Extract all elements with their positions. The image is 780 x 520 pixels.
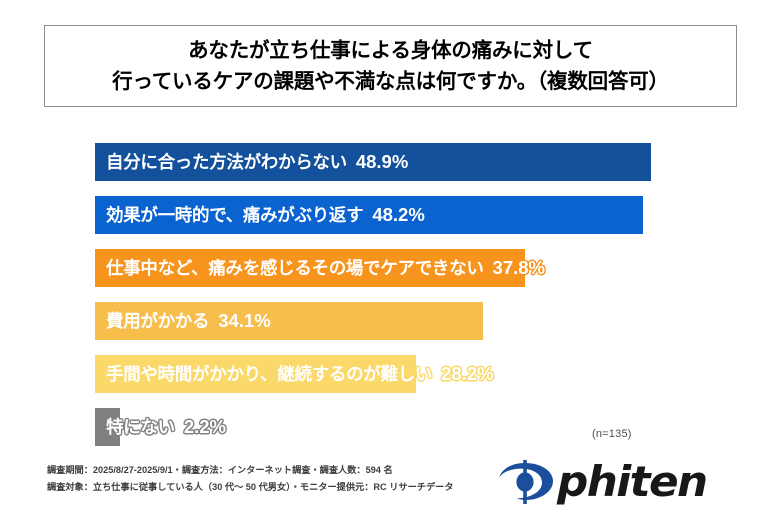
bar-label: 自分に合った方法がわからない48.9% [106, 143, 408, 181]
bar-row: 手間や時間がかかり、継続するのが難しい28.2% [95, 355, 686, 393]
bar-value-text: 28.2% [441, 363, 493, 384]
bar-row: 自分に合った方法がわからない48.9% [95, 143, 686, 181]
bar-label: 特にない2.2% [106, 408, 226, 446]
phiten-phi-mark-icon [495, 460, 557, 504]
survey-method-notes: 調査期間：2025/8/27-2025/9/1・調査方法：インターネット調査・調… [47, 462, 477, 496]
bar-label: 手間や時間がかかり、継続するのが難しい28.2% [106, 355, 494, 393]
phiten-logo: phiten [495, 458, 743, 506]
survey-target-line: 調査対象：立ち仕事に従事している人（30 代〜 50 代男女）・モニター提供元：… [47, 479, 477, 496]
bar-category-text: 特にない [106, 417, 175, 437]
bar-row: 仕事中など、痛みを感じるその場でケアできない37.8% [95, 249, 686, 287]
sample-size-note: (n=135) [592, 428, 632, 440]
bar-category-text: 仕事中など、痛みを感じるその場でケアできない [106, 258, 484, 278]
bar-value-text: 37.8% [493, 257, 545, 278]
bar-row: 効果が一時的で、痛みがぶり返す48.2% [95, 196, 686, 234]
phiten-wordmark: phiten [557, 457, 707, 506]
bar-value-text: 48.9% [356, 151, 408, 172]
bar-row: 特にない2.2% [95, 408, 686, 446]
bar-label: 仕事中など、痛みを感じるその場でケアできない37.8% [106, 249, 545, 287]
bar-category-text: 費用がかかる [106, 311, 209, 331]
bar-value-text: 48.2% [372, 204, 424, 225]
bar-category-text: 自分に合った方法がわからない [106, 152, 347, 172]
horizontal-bar-chart: 自分に合った方法がわからない48.9%効果が一時的で、痛みがぶり返す48.2%仕… [0, 0, 780, 520]
bar-category-text: 手間や時間がかかり、継続するのが難しい [106, 364, 432, 384]
bar-value-text: 34.1% [218, 310, 270, 331]
bar-value-text: 2.2% [184, 416, 226, 437]
bar-label: 効果が一時的で、痛みがぶり返す48.2% [106, 196, 425, 234]
bar-label: 費用がかかる34.1% [106, 302, 271, 340]
survey-infographic: あなたが立ち仕事による身体の痛みに対して 行っているケアの課題や不満な点は何です… [0, 0, 780, 520]
survey-period-line: 調査期間：2025/8/27-2025/9/1・調査方法：インターネット調査・調… [47, 462, 477, 479]
bar-category-text: 効果が一時的で、痛みがぶり返す [106, 205, 363, 225]
bar-row: 費用がかかる34.1% [95, 302, 686, 340]
